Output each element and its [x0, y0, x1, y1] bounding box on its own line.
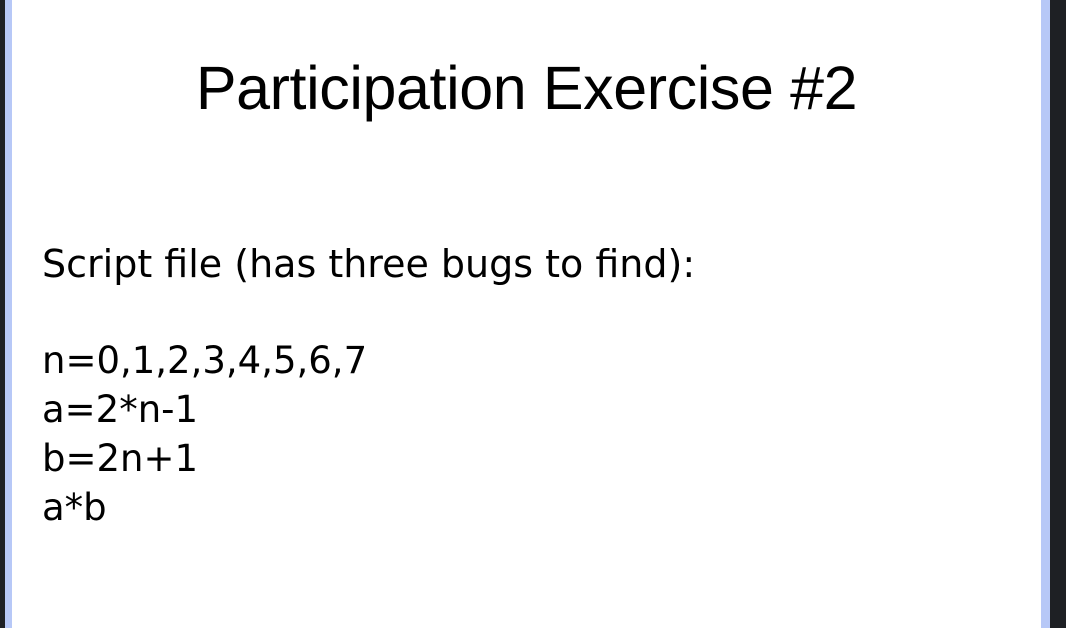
slide-viewer: Participation Exercise #2 Script file (h…: [0, 0, 1066, 628]
code-line: n=0,1,2,3,4,5,6,7: [42, 336, 1002, 385]
slide-body-intro: Script file (has three bugs to find):: [42, 240, 1002, 288]
slide-title: Participation Exercise #2: [12, 52, 1041, 124]
code-line: a*b: [42, 483, 1002, 532]
window-edge-right: [1050, 0, 1066, 628]
slide-body: Script file (has three bugs to find): n=…: [42, 240, 1002, 532]
slide-accent-bar-left: [5, 0, 12, 628]
code-line: b=2n+1: [42, 434, 1002, 483]
slide-canvas: Participation Exercise #2 Script file (h…: [12, 0, 1041, 628]
slide-accent-bar-right: [1041, 0, 1050, 628]
code-line: a=2*n-1: [42, 385, 1002, 434]
script-code-block: n=0,1,2,3,4,5,6,7 a=2*n-1 b=2n+1 a*b: [42, 336, 1002, 532]
